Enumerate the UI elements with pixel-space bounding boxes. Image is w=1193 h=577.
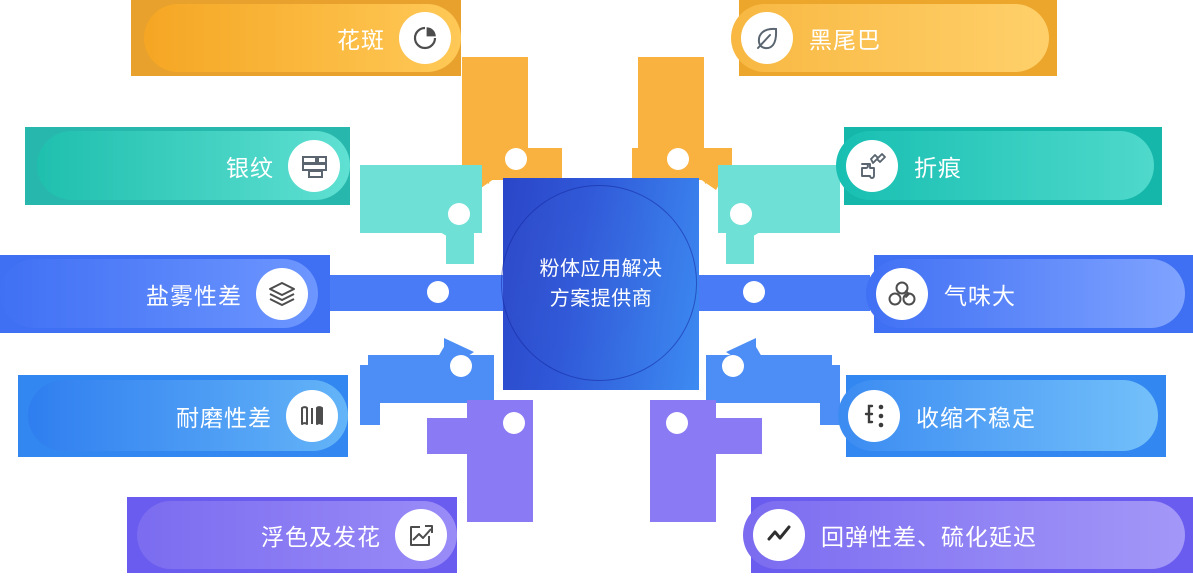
brick-wall-icon <box>288 140 340 192</box>
node-huitan-xingcha[interactable]: 回弹性差、硫化延迟 <box>743 497 1193 577</box>
node-yanwu-xingcha[interactable]: 盐雾性差 <box>0 255 330 337</box>
node-label: 盐雾性差 <box>146 277 242 311</box>
node-qiwei-da[interactable]: 气味大 <box>866 255 1193 337</box>
connector-teal-left <box>360 165 482 264</box>
node-label: 回弹性差、硫化延迟 <box>821 518 1037 552</box>
center-node-label: 粉体应用解决 方案提供商 <box>516 254 686 314</box>
node-hua-ban[interactable]: 花斑 <box>131 0 461 80</box>
line-chart-icon <box>753 509 805 561</box>
center-label-line2: 方案提供商 <box>516 284 686 314</box>
map-icon <box>286 390 338 442</box>
node-label: 折痕 <box>914 149 962 183</box>
center-label-line1: 粉体应用解决 <box>516 254 686 284</box>
connector-teal-right <box>718 165 840 264</box>
node-naimo-xingcha[interactable]: 耐磨性差 <box>18 375 348 461</box>
layers-icon <box>256 268 308 320</box>
connector-blue-left <box>330 275 504 311</box>
node-zhe-hen[interactable]: 折痕 <box>836 127 1162 209</box>
node-shousuo-buwending[interactable]: 收缩不稳定 <box>838 375 1166 461</box>
connector-lightblue-right <box>706 338 840 425</box>
node-label: 耐磨性差 <box>176 399 272 433</box>
recycle-icon <box>876 268 928 320</box>
connector-orange-right <box>632 57 732 190</box>
node-label: 浮色及发花 <box>261 518 381 552</box>
leaf-icon <box>741 12 793 64</box>
puzzle-icon <box>846 140 898 192</box>
node-label: 黑尾巴 <box>809 21 881 55</box>
hierarchy-icon <box>848 390 900 442</box>
pie-chart-icon <box>399 12 451 64</box>
node-fuse-ji-fahua[interactable]: 浮色及发花 <box>127 497 457 577</box>
node-label: 收缩不稳定 <box>916 399 1036 433</box>
trend-up-box-icon <box>395 509 447 561</box>
node-yin-wen[interactable]: 银纹 <box>25 127 350 209</box>
diagram-canvas: 粉体应用解决 方案提供商 花斑 银纹 <box>0 0 1193 577</box>
node-label: 气味大 <box>944 277 1016 311</box>
connector-blue-right <box>696 275 870 311</box>
node-hei-weiba[interactable]: 黑尾巴 <box>731 0 1057 80</box>
node-label: 银纹 <box>226 149 274 183</box>
center-node[interactable]: 粉体应用解决 方案提供商 <box>503 178 699 390</box>
node-label: 花斑 <box>337 21 385 55</box>
